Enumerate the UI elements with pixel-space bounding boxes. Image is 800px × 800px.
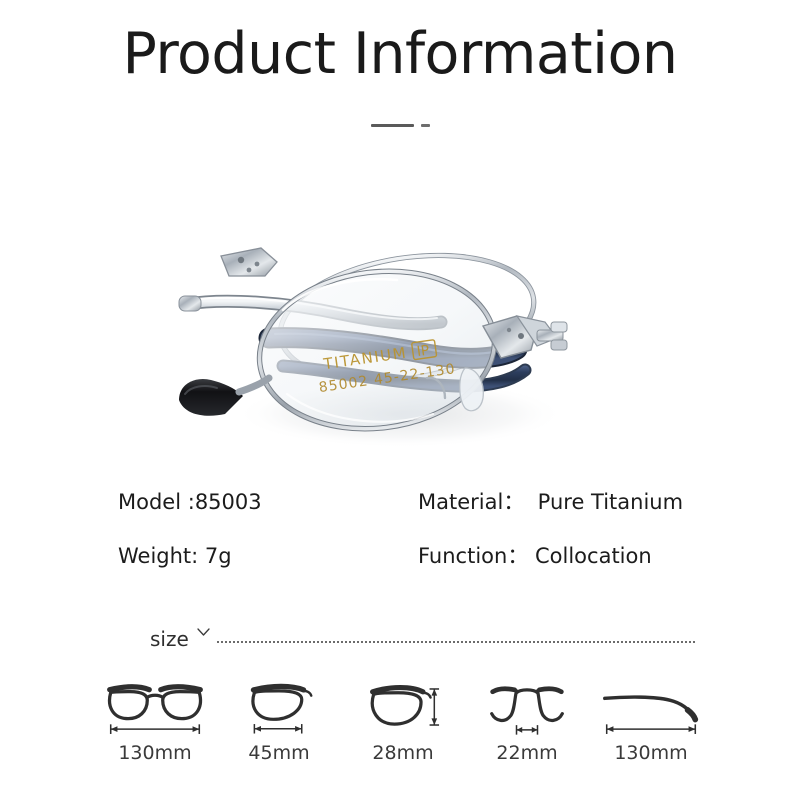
measure-frame-width: 130mm — [96, 676, 214, 763]
spec-material-value: Pure Titanium — [524, 492, 683, 513]
spec-material: Material： Pure Titanium — [418, 492, 718, 513]
lens-width-icon — [243, 676, 315, 738]
measure-lens-width: 45mm — [220, 676, 338, 763]
divider-dash-short — [421, 124, 430, 127]
divider-dash-long — [371, 124, 414, 127]
measure-bridge-width-label: 22mm — [496, 744, 557, 763]
spec-function-value: Collocation — [528, 546, 651, 567]
photo-hinge-left — [221, 248, 277, 276]
bridge-width-icon — [486, 676, 568, 738]
spec-function-label: Function： — [418, 546, 528, 567]
spec-weight: Weight: 7g — [118, 546, 418, 567]
title-divider — [0, 124, 800, 127]
measure-lens-width-label: 45mm — [248, 744, 309, 763]
svg-text:IP: IP — [416, 343, 431, 361]
measure-lens-height: 28mm — [344, 676, 462, 763]
spec-grid: Model : 85003 Material： Pure Titanium We… — [118, 492, 718, 600]
temple-length-icon — [599, 676, 703, 738]
measure-temple-length-label: 130mm — [614, 744, 687, 763]
measure-frame-width-label: 130mm — [118, 744, 191, 763]
product-photo: TITANIUM IP 85002 45-22-130 — [165, 218, 625, 463]
spec-row: Weight: 7g Function： Collocation — [118, 546, 718, 600]
frame-width-icon — [103, 676, 207, 738]
measure-temple-length: 130mm — [592, 676, 710, 763]
measure-lens-height-label: 28mm — [372, 744, 433, 763]
lens-height-icon — [366, 676, 440, 738]
spec-model-label: Model : — [118, 492, 195, 513]
spec-weight-value: 7g — [198, 546, 231, 567]
spec-row: Model : 85003 Material： Pure Titanium — [118, 492, 718, 546]
chevron-down-icon[interactable] — [197, 628, 210, 637]
measure-bridge-width: 22mm — [468, 676, 586, 763]
page-title: Product Information — [0, 22, 800, 88]
spec-weight-label: Weight: — [118, 546, 198, 567]
spec-function: Function： Collocation — [418, 546, 718, 567]
size-dotted-line — [216, 641, 695, 643]
size-section-header[interactable]: size — [150, 628, 695, 649]
size-label: size — [150, 629, 189, 649]
spec-material-label: Material： — [418, 492, 524, 513]
spec-model-value: 85003 — [195, 492, 262, 513]
measurement-strip: 130mm 45mm — [96, 676, 710, 763]
spec-model: Model : 85003 — [118, 492, 418, 513]
